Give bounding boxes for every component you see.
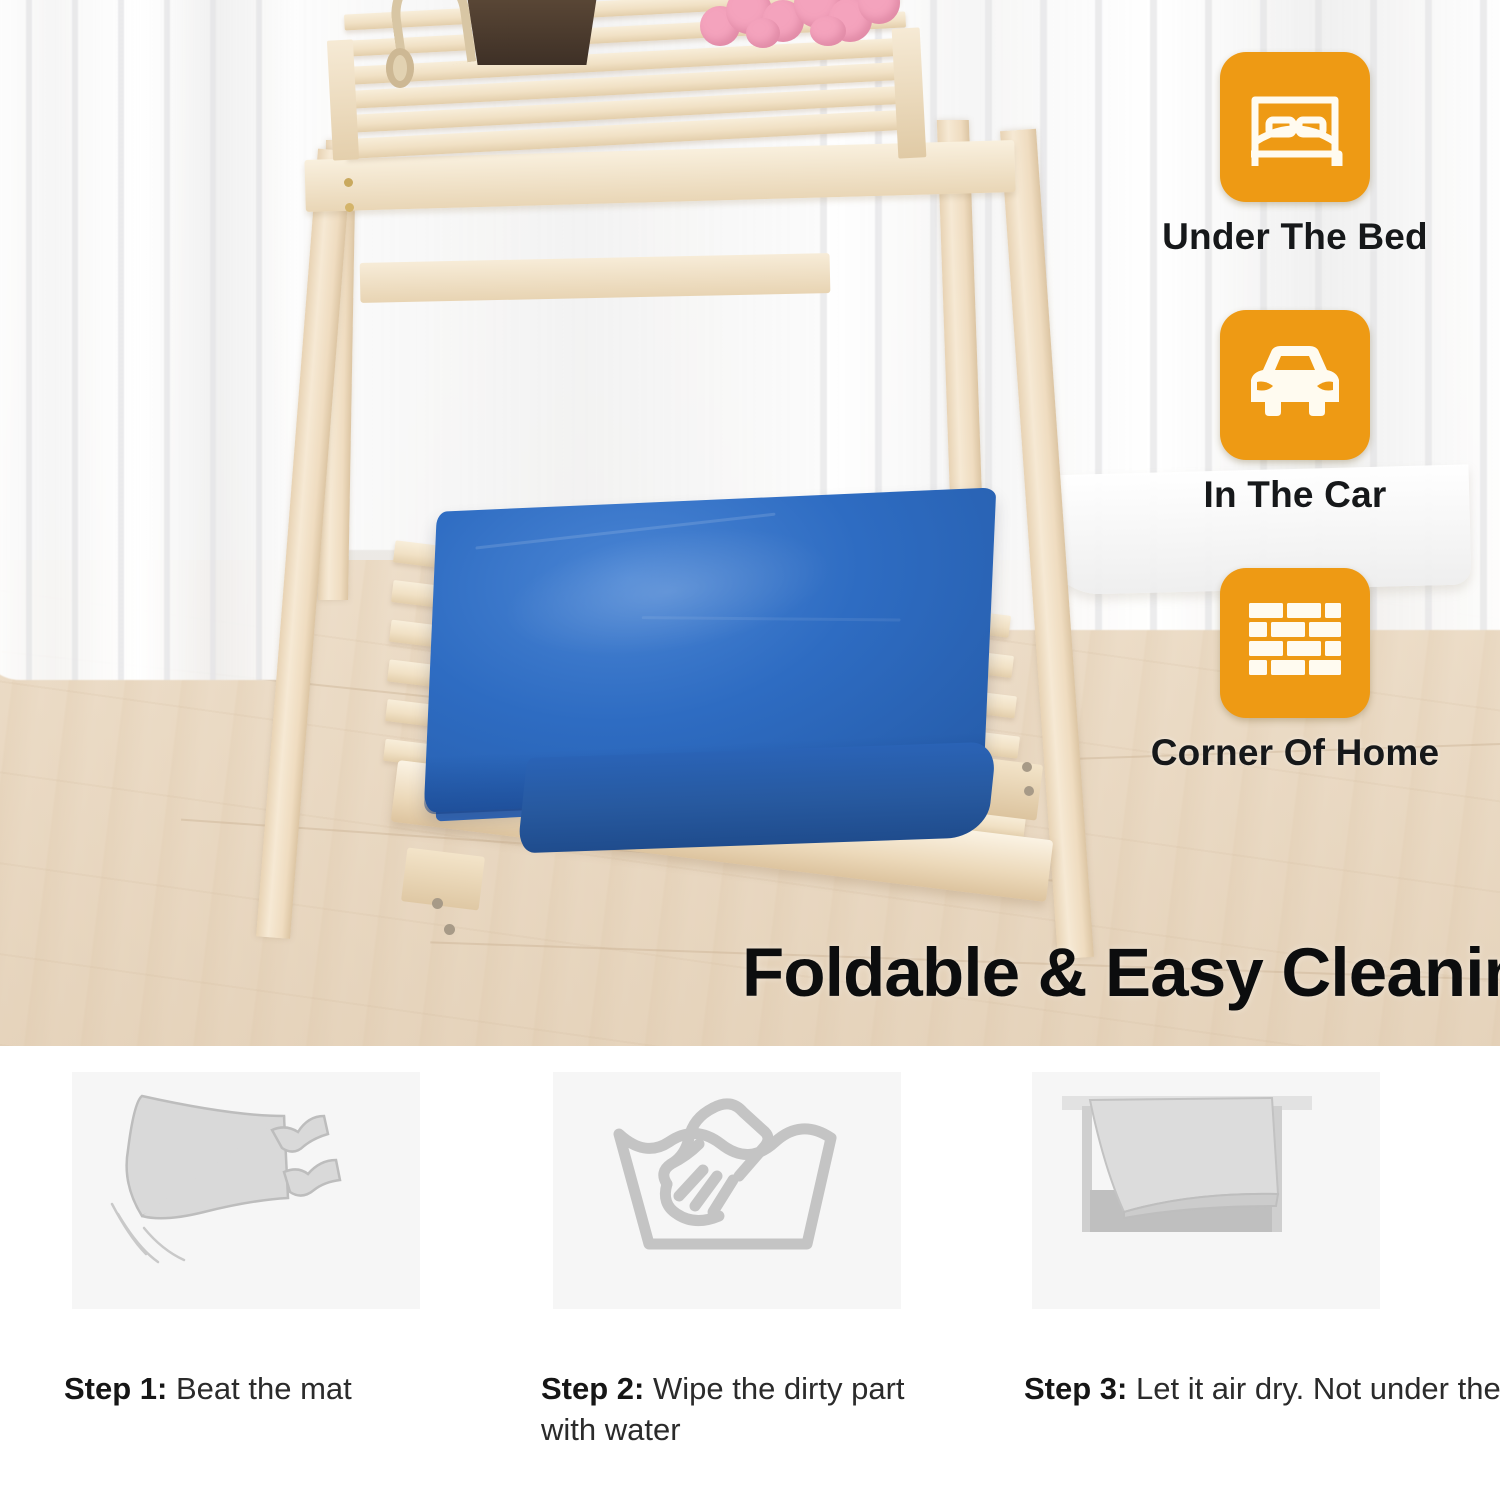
feature-in-the-car: In The Car <box>1204 310 1387 516</box>
step-3-caption: Step 3: Let it air dry. Not under the su… <box>1024 1369 1424 1410</box>
hero-product-photo: 0 <box>0 0 1500 1046</box>
step-2: Step 2: Wipe the dirty part with water <box>553 1072 941 1451</box>
step-1-text: Beat the mat <box>176 1371 352 1406</box>
mat-hanging-dry-icon <box>1032 1072 1380 1309</box>
hand-wash-basin-icon <box>553 1072 901 1309</box>
feature-label: In The Car <box>1204 474 1387 516</box>
step-1-illustration <box>72 1072 420 1309</box>
feature-label: Corner Of Home <box>1151 732 1440 774</box>
car-icon <box>1241 340 1349 430</box>
step-2-label: Step 2: <box>541 1371 644 1406</box>
step-3-illustration <box>1032 1072 1380 1309</box>
step-1-caption: Step 1: Beat the mat <box>64 1369 420 1410</box>
feature-label: Under The Bed <box>1162 216 1428 258</box>
feature-badge-list: Under The Bed In The Car <box>1130 52 1460 774</box>
curtain-left <box>0 0 310 680</box>
car-badge <box>1220 310 1370 460</box>
pink-rope-toy <box>700 0 900 44</box>
step-3-label: Step 3: <box>1024 1371 1127 1406</box>
feature-corner-of-home: Corner Of Home <box>1151 568 1440 774</box>
mat-shaking-icon <box>72 1072 420 1309</box>
bed-badge <box>1220 52 1370 202</box>
step-3-text: Let it air dry. Not under the sunlight. <box>1136 1371 1500 1406</box>
cleaning-steps-section: Step 1: Beat the mat Step 2: Wip <box>0 1046 1500 1500</box>
blue-folded-mat <box>420 495 1010 850</box>
hero-headline: Foldable & Easy Cleaning <box>742 933 1500 1012</box>
step-1-label: Step 1: <box>64 1371 167 1406</box>
brick-wall-badge <box>1220 568 1370 718</box>
step-1: Step 1: Beat the mat <box>72 1072 420 1410</box>
brick-wall-icon <box>1245 597 1345 689</box>
feature-under-the-bed: Under The Bed <box>1162 52 1428 258</box>
step-3: Step 3: Let it air dry. Not under the su… <box>1032 1072 1424 1410</box>
step-2-illustration <box>553 1072 901 1309</box>
step-2-caption: Step 2: Wipe the dirty part with water <box>541 1369 941 1451</box>
bed-icon <box>1243 80 1347 174</box>
